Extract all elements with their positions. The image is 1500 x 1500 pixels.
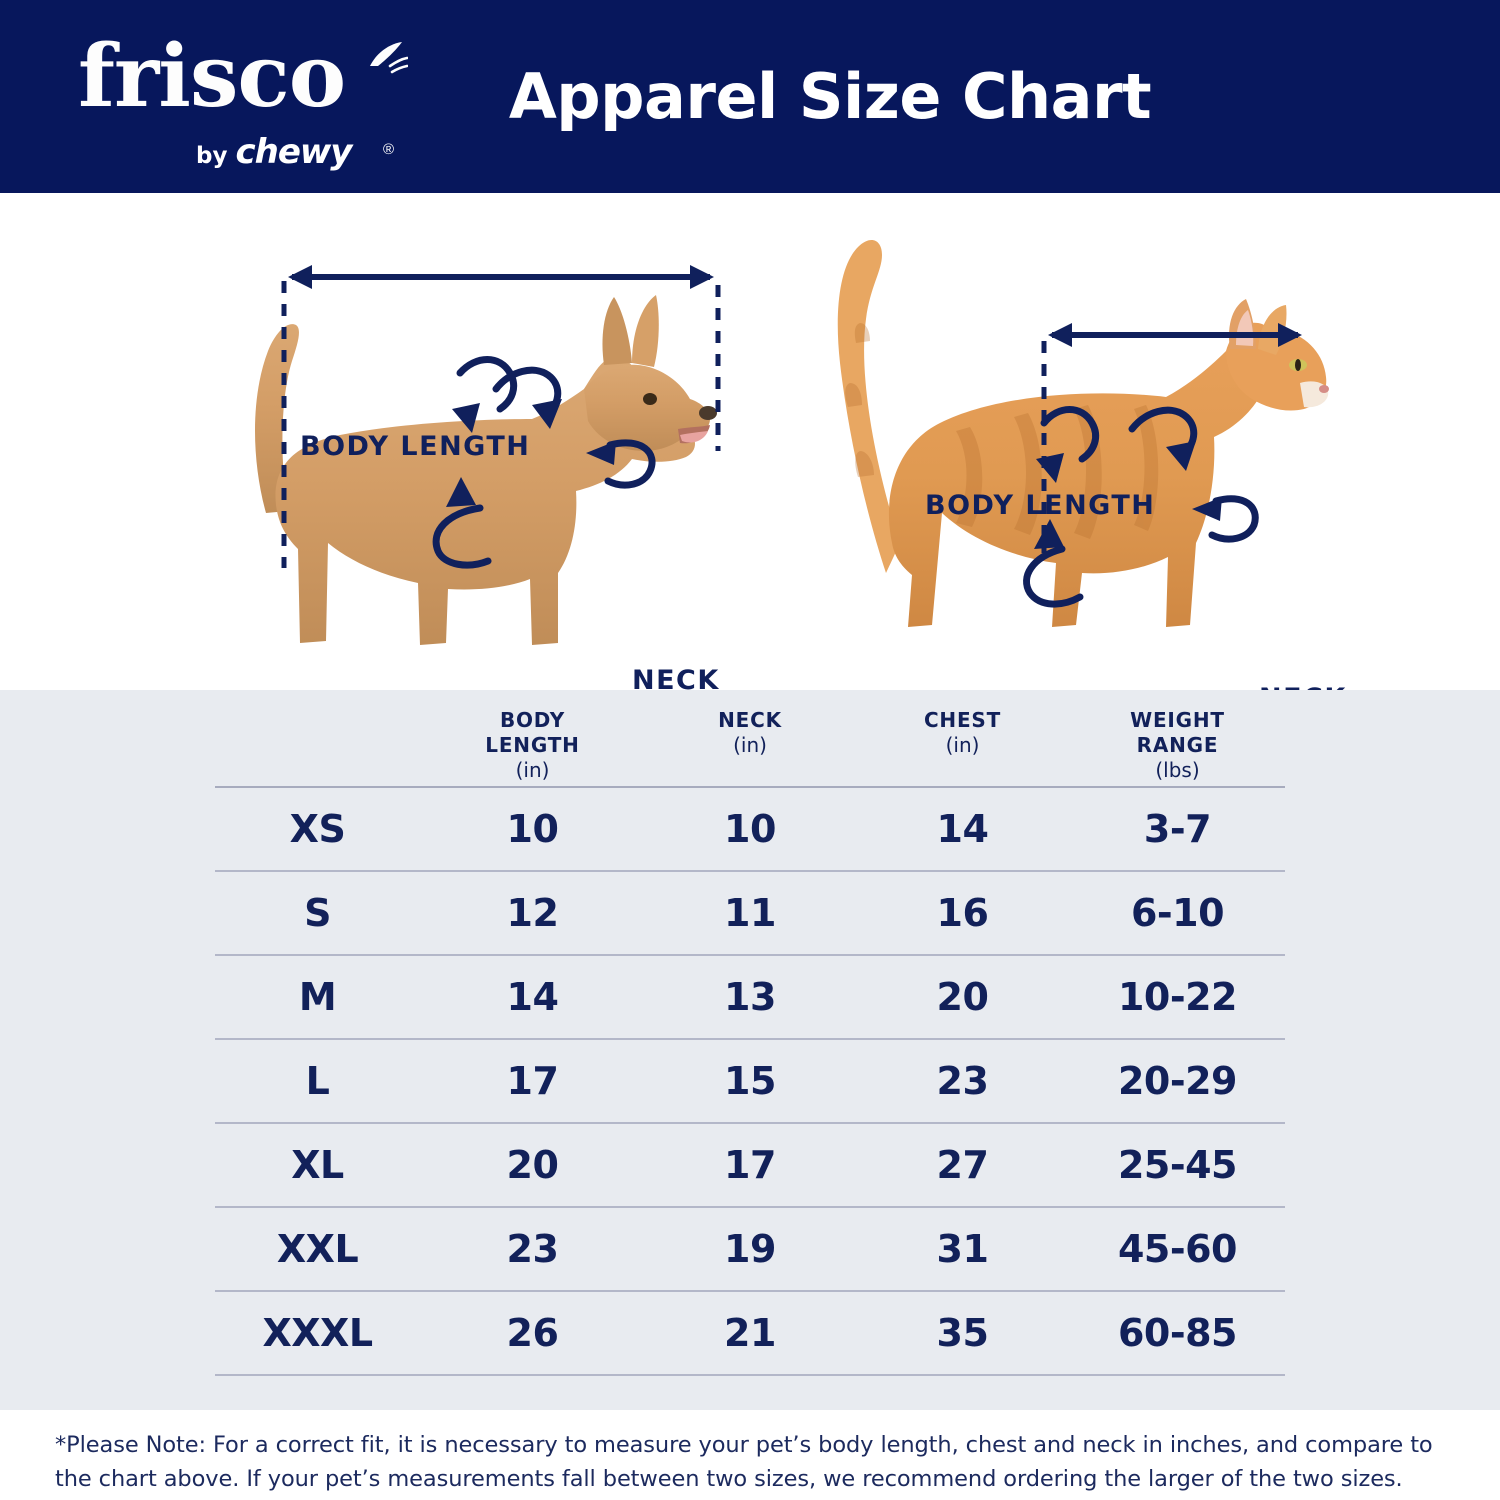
cat-body-length-label: BODY LENGTH (925, 490, 1155, 521)
cell-weight-range: 3-7 (1070, 807, 1285, 851)
cell-chest: 14 (855, 807, 1070, 851)
column-header-weight-range: WEIGHT RANGE (lbs) (1070, 708, 1285, 783)
cell-weight-range: 6-10 (1070, 891, 1285, 935)
page-title: Apparel Size Chart (0, 0, 1500, 193)
size-table: BODY LENGTH (in) NECK (in) CHEST (in) WE… (215, 690, 1285, 1376)
page-header: frisco ® by chewy Apparel Size Chart (0, 0, 1500, 193)
cell-neck: 17 (645, 1143, 855, 1187)
cell-weight-range: 25-45 (1070, 1143, 1285, 1187)
column-header-neck-unit: (in) (645, 733, 855, 758)
dog-body-length-label: BODY LENGTH (300, 431, 530, 462)
column-header-body-length-line2: LENGTH (485, 733, 579, 757)
table-divider (215, 1374, 1285, 1376)
cell-neck: 10 (645, 807, 855, 851)
cell-size: XL (215, 1143, 420, 1187)
cell-body-length: 20 (420, 1143, 645, 1187)
cell-chest: 35 (855, 1311, 1070, 1355)
table-row: XXXL 26 21 35 60-85 (215, 1292, 1285, 1374)
column-header-chest-label: CHEST (924, 708, 1001, 732)
cell-neck: 15 (645, 1059, 855, 1103)
column-header-neck: NECK (in) (645, 708, 855, 758)
size-table-section: BODY LENGTH (in) NECK (in) CHEST (in) WE… (0, 690, 1500, 1410)
table-row: S 12 11 16 6-10 (215, 872, 1285, 954)
cell-size: XXXL (215, 1311, 420, 1355)
table-row: XXL 23 19 31 45-60 (215, 1208, 1285, 1290)
column-header-weight-range-line2: RANGE (1137, 733, 1219, 757)
column-header-weight-range-line1: WEIGHT (1130, 708, 1225, 732)
table-row: L 17 15 23 20-29 (215, 1040, 1285, 1122)
column-header-body-length-line1: BODY (500, 708, 565, 732)
footer-section: *Please Note: For a correct fit, it is n… (0, 1410, 1500, 1500)
cell-size: XS (215, 807, 420, 851)
cell-body-length: 12 (420, 891, 645, 935)
cell-size: L (215, 1059, 420, 1103)
column-header-neck-label: NECK (718, 708, 782, 732)
cell-body-length: 26 (420, 1311, 645, 1355)
cell-body-length: 17 (420, 1059, 645, 1103)
table-row: M 14 13 20 10-22 (215, 956, 1285, 1038)
table-body: XS 10 10 14 3-7 S 12 11 16 6-10 M (215, 788, 1285, 1376)
cell-size: M (215, 975, 420, 1019)
cell-weight-range: 45-60 (1070, 1227, 1285, 1271)
cell-neck: 11 (645, 891, 855, 935)
cell-neck: 13 (645, 975, 855, 1019)
column-header-weight-range-unit: (lbs) (1070, 758, 1285, 783)
table-row: XL 20 17 27 25-45 (215, 1124, 1285, 1206)
cell-chest: 27 (855, 1143, 1070, 1187)
illustration-panel: BODY LENGTH NECK CHEST (0, 193, 1500, 690)
cat-illustration (800, 213, 1400, 683)
cell-neck: 19 (645, 1227, 855, 1271)
apparel-size-chart-page: frisco ® by chewy Apparel Size Chart (0, 0, 1500, 1500)
cell-chest: 23 (855, 1059, 1070, 1103)
cell-chest: 16 (855, 891, 1070, 935)
table-header-row: BODY LENGTH (in) NECK (in) CHEST (in) WE… (215, 690, 1285, 786)
cell-weight-range: 20-29 (1070, 1059, 1285, 1103)
table-row: XS 10 10 14 3-7 (215, 788, 1285, 870)
column-header-chest-unit: (in) (855, 733, 1070, 758)
cell-body-length: 23 (420, 1227, 645, 1271)
column-header-body-length-unit: (in) (420, 758, 645, 783)
cell-body-length: 10 (420, 807, 645, 851)
cell-body-length: 14 (420, 975, 645, 1019)
cell-neck: 21 (645, 1311, 855, 1355)
column-header-body-length: BODY LENGTH (in) (420, 708, 645, 783)
column-header-chest: CHEST (in) (855, 708, 1070, 758)
cell-size: S (215, 891, 420, 935)
cell-size: XXL (215, 1227, 420, 1271)
cell-weight-range: 60-85 (1070, 1311, 1285, 1355)
cell-chest: 20 (855, 975, 1070, 1019)
cell-chest: 31 (855, 1227, 1070, 1271)
please-note-text: *Please Note: For a correct fit, it is n… (55, 1428, 1455, 1496)
cell-weight-range: 10-22 (1070, 975, 1285, 1019)
